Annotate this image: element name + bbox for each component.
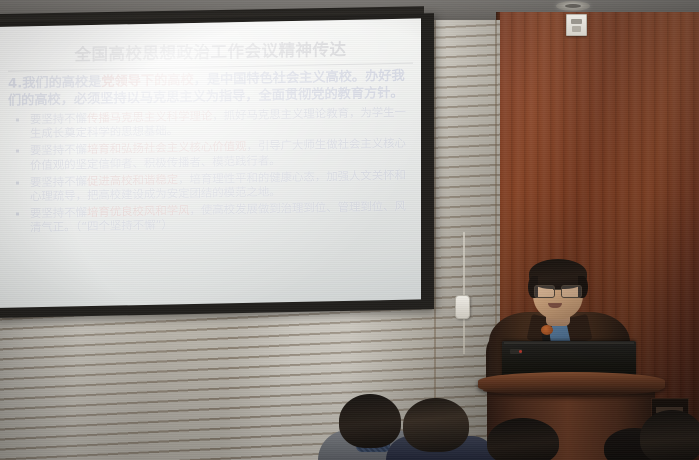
audience-member-2-head <box>403 398 469 452</box>
projection-screen: 全国高校思想政治工作会议精神传达 4.我们的高校是党领导下的高校，是中国特色社会… <box>0 13 434 318</box>
bullet-4-prefix: 要坚持不懈 <box>30 205 87 220</box>
ceiling-light-inner <box>565 4 581 8</box>
slide-lead-paragraph: 4.我们的高校是党领导下的高校，是中国特色社会主义高校。办好我们的高校，必须坚持… <box>8 69 416 110</box>
eyeglasses-icon <box>534 285 582 296</box>
laptop-logo-dot-icon <box>519 350 522 353</box>
bullet-1-highlight: 传播马克思主义科学理论 <box>87 109 212 126</box>
eyeglass-bridge <box>553 289 561 290</box>
microphone-head-icon <box>541 325 553 335</box>
audience-member-3-head <box>487 418 559 460</box>
slide-body: 4.我们的高校是党领导下的高校，是中国特色社会主义高校。办好我们的高校，必须坚持… <box>8 69 416 239</box>
presentation-slide: 全国高校思想政治工作会议精神传达 4.我们的高校是党领导下的高校，是中国特色社会… <box>0 18 421 307</box>
slide-bullet-2: 要坚持不懈培育和弘扬社会主义核心价值观，引导广大师生做社会主义核心价值观的坚定信… <box>8 136 416 173</box>
lead-text-before: .我们的高校是 <box>17 75 101 92</box>
screen-control-cable <box>463 232 465 354</box>
bullet-3-prefix: 要坚持不懈 <box>30 174 87 189</box>
socket-slot-upper <box>571 19 582 24</box>
laptop-lid-edge <box>504 342 634 344</box>
slide-bullet-3: 要坚持不懈促进高校和谐稳定，培育理性平和的健康心态，加强人文关怀和心理疏导，把高… <box>8 167 416 204</box>
eyeglass-lens-left <box>534 285 555 298</box>
bullet-1-prefix: 要坚持不懈 <box>30 111 87 126</box>
lead-number: 4 <box>8 77 17 92</box>
podium-front-lip <box>483 386 660 395</box>
bullet-4-highlight: 培育优良校风和学风 <box>87 203 190 219</box>
screen-control-box[interactable] <box>455 295 470 319</box>
audience-member-1-head <box>339 394 401 448</box>
projection-screen-surface: 全国高校思想政治工作会议精神传达 4.我们的高校是党领导下的高校，是中国特色社会… <box>0 18 421 307</box>
photo-scene: 全国高校思想政治工作会议精神传达 4.我们的高校是党领导下的高校，是中国特色社会… <box>0 0 699 460</box>
recessed-ceiling-light-icon <box>556 1 590 11</box>
bullet-2-prefix: 要坚持不懈 <box>30 143 87 158</box>
socket-slot-lower <box>572 26 581 32</box>
slat-wall-seam-left <box>434 20 436 460</box>
lead-highlight: 党领导下的高校 <box>101 73 193 90</box>
eyeglass-lens-right <box>561 285 582 298</box>
slide-bullet-4: 要坚持不懈培育优良校风和学风，使高校发展做到治理到位、管理到位、风清气正。（“四… <box>8 199 416 236</box>
slide-bullet-1: 要坚持不懈传播马克思主义科学理论，抓好马克思主义理论教育，为学生一生成长奠定科学… <box>8 105 416 142</box>
slide-title: 全国高校思想政治工作会议精神传达 <box>0 34 421 66</box>
audience-member-4-head <box>640 410 699 460</box>
wall-socket-plate[interactable] <box>566 14 587 36</box>
